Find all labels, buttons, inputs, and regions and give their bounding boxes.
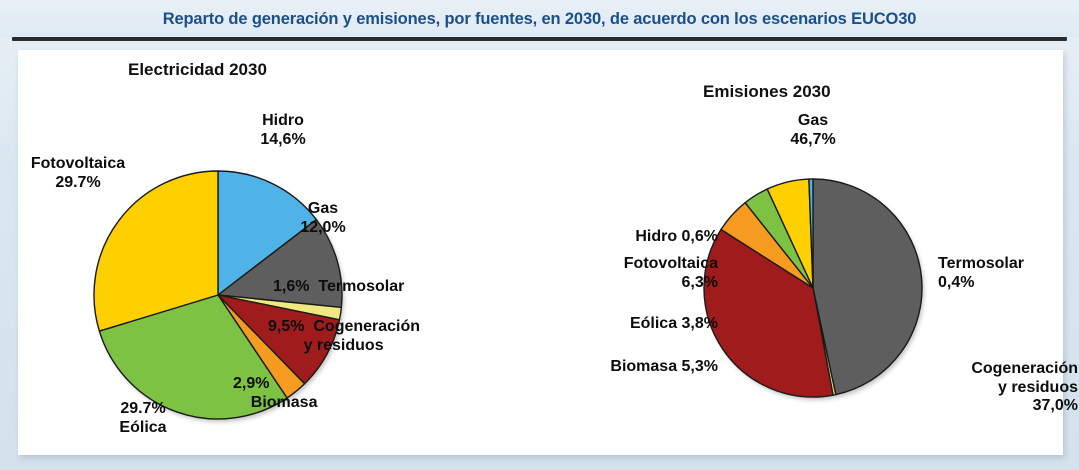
- title-divider: [12, 37, 1067, 41]
- page-title: Reparto de generación y emisiones, por f…: [163, 10, 917, 29]
- label-eolica: Eólica 3,8%: [538, 315, 718, 334]
- label-termosolar: Termosolar 0,4%: [938, 255, 1079, 292]
- label-gas: Gas 46,7%: [753, 112, 873, 149]
- label-fotovoltaica: Fotovoltaica 6,3%: [538, 255, 718, 292]
- label-fotovoltaica: Fotovoltaica 29.7%: [8, 155, 148, 192]
- chart-electricidad-2030: Electricidad 2030 Hidro 14,6% Fotovoltai…: [18, 50, 548, 455]
- chart-title-electricidad: Electricidad 2030: [128, 60, 267, 80]
- label-hidro: Hidro 0,6%: [538, 228, 718, 247]
- label-termosolar: 1,6% Termosolar: [273, 278, 523, 297]
- label-biomasa: Biomasa 5,3%: [538, 358, 718, 377]
- label-cogeneracion: Cogeneración y residuos 37,0%: [888, 360, 1078, 416]
- label-hidro: Hidro 14,6%: [223, 112, 343, 149]
- label-gas: Gas 12,0%: [263, 200, 383, 237]
- label-cogeneracion: 9,5% Cogeneración y residuos: [268, 318, 528, 355]
- label-biomasa: 2,9% Biomasa: [233, 375, 443, 412]
- chart-title-emisiones: Emisiones 2030: [703, 82, 831, 102]
- label-eolica: 29.7% Eólica: [58, 400, 228, 437]
- slide-root: Reparto de generación y emisiones, por f…: [0, 0, 1079, 470]
- title-bar: Reparto de generación y emisiones, por f…: [0, 0, 1079, 38]
- chart-emisiones-2030: Emisiones 2030 Gas 46,7% Hidro 0,6% Foto…: [548, 50, 1063, 455]
- charts-panel: Electricidad 2030 Hidro 14,6% Fotovoltai…: [18, 50, 1063, 455]
